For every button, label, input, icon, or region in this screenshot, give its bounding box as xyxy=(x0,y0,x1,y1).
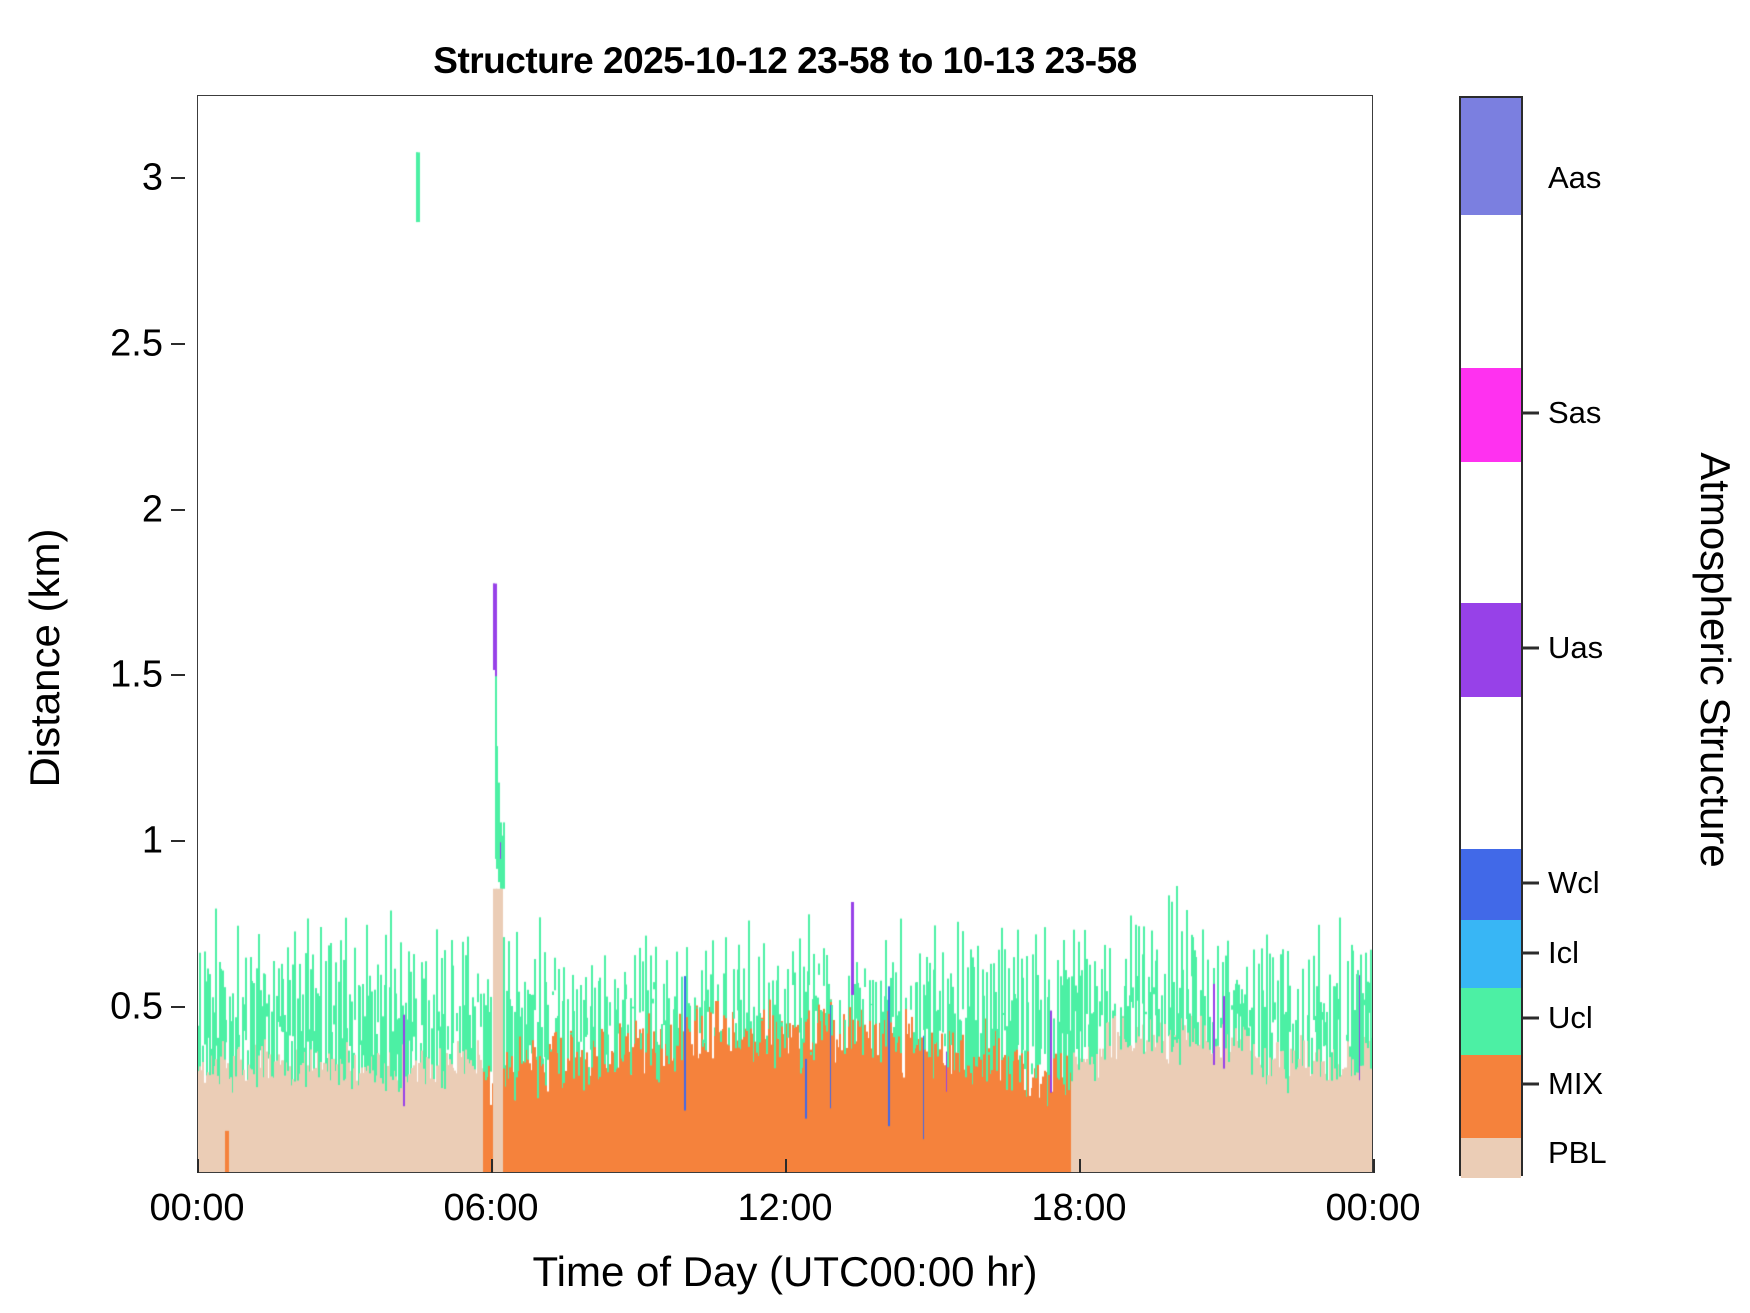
y-tick-label: 0.5 xyxy=(110,986,163,1029)
colorbar-band-mix xyxy=(1461,1055,1521,1138)
colorbar-band-wcl xyxy=(1461,849,1521,919)
y-tick-label: 2.5 xyxy=(110,322,163,365)
x-tick-label: 00:00 xyxy=(149,1187,244,1230)
structure-plot-canvas xyxy=(198,96,1373,1173)
y-tick-mark xyxy=(171,840,185,842)
colorbar-tick-sas xyxy=(1523,411,1539,414)
x-tick-mark xyxy=(1373,1159,1375,1173)
colorbar-label-sas: Sas xyxy=(1548,395,1601,431)
y-tick-mark xyxy=(171,177,185,179)
colorbar-label-icl: Icl xyxy=(1548,935,1579,971)
colorbar-tick-icl xyxy=(1523,951,1539,954)
y-tick-label: 1.5 xyxy=(110,654,163,697)
y-tick-label: 1 xyxy=(142,820,163,863)
colorbar xyxy=(1459,96,1523,1176)
x-tick-mark xyxy=(197,1159,199,1173)
chart-figure: Structure 2025-10-12 23-58 to 10-13 23-5… xyxy=(0,0,1750,1313)
colorbar-tick-ucl xyxy=(1523,1016,1539,1019)
y-tick-mark xyxy=(171,674,185,676)
x-tick-mark xyxy=(1079,1159,1081,1173)
colorbar-label-aas: Aas xyxy=(1548,160,1601,196)
x-tick-label: 12:00 xyxy=(737,1187,832,1230)
colorbar-tick-uas xyxy=(1523,646,1539,649)
x-tick-label: 06:00 xyxy=(443,1187,538,1230)
y-axis-label: Distance (km) xyxy=(21,378,69,938)
x-tick-mark xyxy=(785,1159,787,1173)
y-tick-mark xyxy=(171,343,185,345)
colorbar-label-wcl: Wcl xyxy=(1548,865,1600,901)
colorbar-tick-mix xyxy=(1523,1083,1539,1086)
y-tick-mark xyxy=(171,1006,185,1008)
x-axis-label: Time of Day (UTC00:00 hr) xyxy=(197,1248,1373,1296)
colorbar-band-pbl xyxy=(1461,1138,1521,1178)
colorbar-label-ucl: Ucl xyxy=(1548,1000,1593,1036)
y-tick-mark xyxy=(171,509,185,511)
colorbar-label-uas: Uas xyxy=(1548,630,1603,666)
colorbar-label-pbl: PBL xyxy=(1548,1135,1607,1171)
plot-area xyxy=(197,95,1373,1173)
colorbar-band-sas xyxy=(1461,368,1521,462)
y-tick-label: 3 xyxy=(142,156,163,199)
colorbar-band-aas xyxy=(1461,98,1521,215)
colorbar-band-icl xyxy=(1461,920,1521,988)
colorbar-tick-wcl xyxy=(1523,881,1539,884)
colorbar-band-uas xyxy=(1461,603,1521,697)
x-axis: 00:0006:0012:0018:0000:00 xyxy=(197,1173,1373,1243)
y-tick-label: 2 xyxy=(142,488,163,531)
x-tick-label: 18:00 xyxy=(1031,1187,1126,1230)
colorbar-title: Atmospheric Structure xyxy=(1691,340,1739,980)
x-tick-label: 00:00 xyxy=(1325,1187,1420,1230)
colorbar-band-ucl xyxy=(1461,988,1521,1055)
colorbar-label-mix: MIX xyxy=(1548,1066,1603,1102)
page-title: Structure 2025-10-12 23-58 to 10-13 23-5… xyxy=(197,40,1373,82)
x-tick-mark xyxy=(491,1159,493,1173)
